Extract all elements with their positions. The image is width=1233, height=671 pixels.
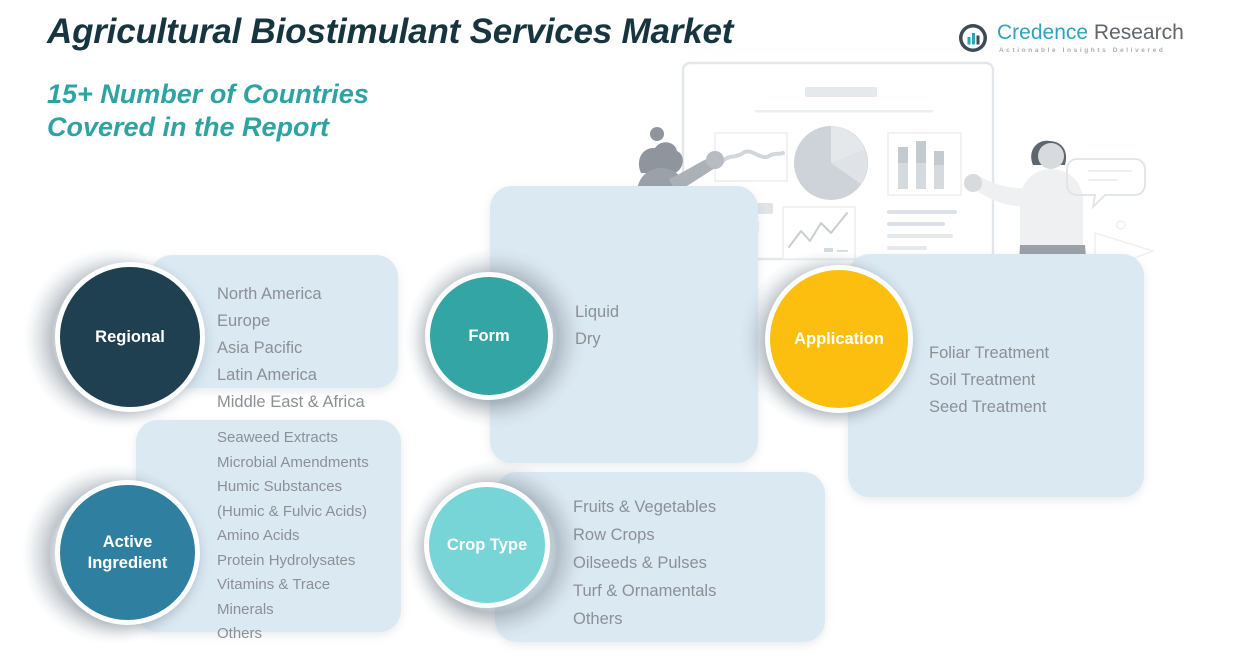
crop-type-items: Fruits & Vegetables Row Crops Oilseeds &… <box>573 493 813 633</box>
active-ingredient-label: Active Ingredient <box>88 532 168 574</box>
form-items: Liquid Dry <box>575 299 745 353</box>
application-items: Foliar Treatment Soil Treatment Seed Tre… <box>929 340 1134 421</box>
logo-word-research: Research <box>1088 21 1184 44</box>
regional-label: Regional <box>95 327 165 348</box>
application-circle[interactable]: Application <box>765 265 913 413</box>
page-subtitle: 15+ Number of Countries Covered in the R… <box>47 78 369 144</box>
credence-logo-icon <box>957 22 989 54</box>
logo-wordmark: Credence Research <box>997 21 1184 45</box>
infographic-root: Regional North America Europe Asia Pacif… <box>0 0 1233 671</box>
logo-word-credence: Credence <box>997 21 1088 44</box>
form-circle[interactable]: Form <box>425 272 553 400</box>
active-ingredient-circle[interactable]: Active Ingredient <box>55 480 200 625</box>
logo-tagline: Actionable Insights Delivered <box>999 47 1165 54</box>
regional-circle[interactable]: Regional <box>55 262 205 412</box>
regional-items: North America Europe Asia Pacific Latin … <box>217 281 402 416</box>
crop-type-circle[interactable]: Crop Type <box>424 482 550 608</box>
company-logo[interactable]: Credence Research Actionable Insights De… <box>957 20 1152 60</box>
crop-type-label: Crop Type <box>447 535 527 556</box>
form-label: Form <box>468 326 509 347</box>
page-title: Agricultural Biostimulant Services Marke… <box>47 12 733 52</box>
active-ingredient-items: Seaweed Extracts Microbial Amendments Hu… <box>217 426 412 647</box>
application-label: Application <box>794 329 884 350</box>
